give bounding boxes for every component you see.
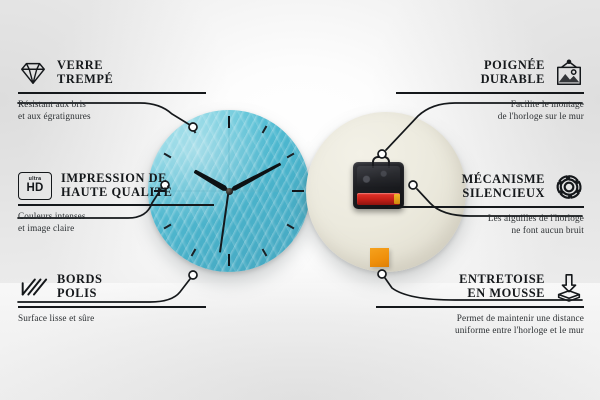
feature-title: BORDS POLIS: [57, 273, 102, 301]
feature-divider: [18, 204, 214, 206]
feature-subtitle-line2: uniforme entre l'horloge et le mur: [376, 324, 584, 337]
feature-header: BORDS POLIS: [18, 272, 206, 302]
feature-subtitle-line1: Les aiguilles de l'horloge: [388, 212, 584, 225]
feature-title: MÉCANISME SILENCIEUX: [462, 173, 545, 201]
feature-title: IMPRESSION DE HAUTE QUALITÉ: [61, 172, 172, 200]
feature-header: VERRE TREMPÉ: [18, 58, 206, 88]
diagonal-lines-icon: [18, 272, 48, 302]
feature-verre-trempe[interactable]: VERRE TREMPÉ Résistant aux bris et aux é…: [18, 58, 206, 123]
clock-tick: [228, 110, 230, 191]
feature-subtitle-line1: Couleurs intenses: [18, 210, 214, 223]
feature-divider: [376, 306, 584, 308]
press-down-pad-icon: [554, 272, 584, 302]
clock-center-cap: [226, 188, 233, 195]
feature-subtitle-line2: et image claire: [18, 222, 214, 235]
feature-subtitle-line1: Permet de maintenir une distance: [376, 312, 584, 325]
feature-subtitle-line1: Facilite le montage: [396, 98, 584, 111]
feature-header: ENTRETOISE EN MOUSSE: [376, 272, 584, 302]
feature-header: POIGNÉE DURABLE: [396, 58, 584, 88]
feature-subtitle-line1: Résistant aux bris: [18, 98, 206, 111]
feature-title: POIGNÉE DURABLE: [481, 59, 545, 87]
picture-hanger-icon: [554, 58, 584, 88]
clock-tick: [228, 191, 230, 272]
feature-divider: [18, 306, 206, 308]
feature-divider: [18, 92, 206, 94]
foam-spacer-square: [370, 248, 389, 267]
infographic-canvas: VERRE TREMPÉ Résistant aux bris et aux é…: [0, 0, 600, 400]
feature-divider: [396, 92, 584, 94]
diamond-icon: [18, 58, 48, 88]
feature-subtitle-line2: ne font aucun bruit: [388, 224, 584, 237]
ultra-hd-icon: ultra HD: [18, 172, 52, 200]
feature-impression-haute-qualite[interactable]: ultra HD IMPRESSION DE HAUTE QUALITÉ Cou…: [18, 172, 214, 235]
feature-header: MÉCANISME SILENCIEUX: [388, 172, 584, 202]
feature-title: VERRE TREMPÉ: [57, 59, 113, 87]
feature-subtitle-line2: et aux égratignures: [18, 110, 206, 123]
ultra-hd-icon-main-text: HD: [26, 183, 43, 195]
feature-divider: [388, 206, 584, 208]
feature-bords-polis[interactable]: BORDS POLIS Surface lisse et sûre: [18, 272, 206, 324]
gear-icon: [554, 172, 584, 202]
feature-subtitle-line2: de l'horloge sur le mur: [396, 110, 584, 123]
feature-title: ENTRETOISE EN MOUSSE: [459, 273, 545, 301]
feature-entretoise-en-mousse[interactable]: ENTRETOISE EN MOUSSE Permet de maintenir…: [376, 272, 584, 337]
clock-tick: [229, 190, 310, 192]
feature-subtitle-line1: Surface lisse et sûre: [18, 312, 206, 325]
feature-header: ultra HD IMPRESSION DE HAUTE QUALITÉ: [18, 172, 214, 200]
feature-poignee-durable[interactable]: POIGNÉE DURABLE Facilite le montage de l…: [396, 58, 584, 123]
feature-mecanisme-silencieux[interactable]: MÉCANISME SILENCIEUX Les aiguilles de l'…: [388, 172, 584, 237]
